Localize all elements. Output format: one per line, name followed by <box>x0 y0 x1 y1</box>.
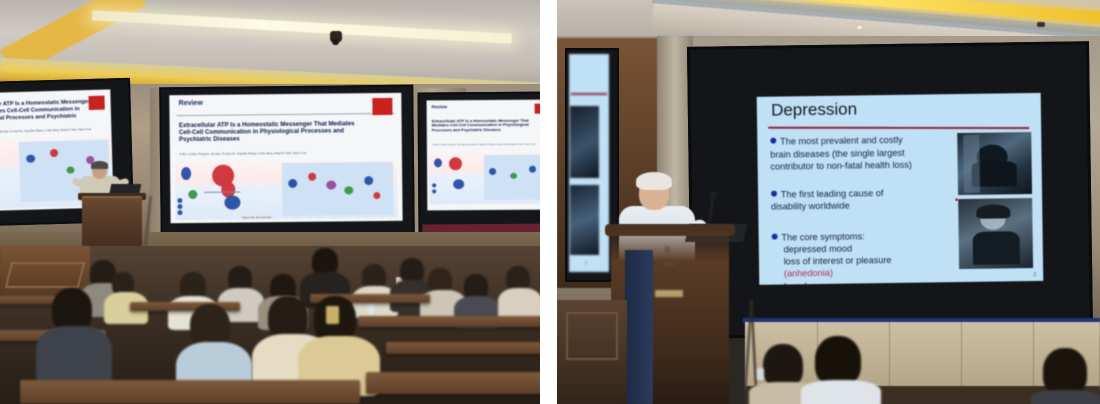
atp-slide-title: Extracellular ATP Is a Homeostatic Messe… <box>432 118 536 133</box>
slide-page-number: 2 <box>1033 272 1036 278</box>
hair-clip <box>326 306 339 324</box>
ceiling-downlight-icon <box>857 26 862 29</box>
bullet-dot-icon <box>771 233 777 239</box>
audience-head <box>815 336 861 386</box>
podium-emblem <box>663 262 677 266</box>
ceiling-camera-icon <box>330 31 342 42</box>
desk-row-front <box>366 372 540 394</box>
journal-logo-icon <box>535 104 540 114</box>
photo-person-against-brick-wall <box>958 198 1033 269</box>
depression-slide-side: 2 <box>569 54 609 272</box>
depression-slide-main: Depression The most prevalent and costly… <box>757 93 1044 285</box>
slide-title: Depression <box>771 99 857 120</box>
atp-slide-header: Review <box>179 100 203 107</box>
bullet-line: contributor to non-fatal health loss) <box>770 158 949 173</box>
atp-review-slide-right: Review Extracellular ATP Is a Homeostati… <box>427 100 540 211</box>
slide-page-number: 2 <box>585 260 587 265</box>
atp-slide-figure: Figure with cell schematic <box>175 159 398 220</box>
atp-slide-figure <box>429 151 540 205</box>
projection-screen-right-partial: Review Extracellular ATP Is a Homeostati… <box>418 91 540 234</box>
slide-bullet-list: The most prevalent and costly brain dise… <box>770 134 951 285</box>
projection-screen-center: Review Extracellular ATP Is a Homeostati… <box>159 85 415 240</box>
atp-slide-title: Extracellular ATP Is a Homeostatic Messe… <box>0 99 97 129</box>
bullet-item-2: The first leading cause of disability wo… <box>771 186 950 213</box>
desk-row <box>0 296 56 304</box>
atp-slide-title: Extracellular ATP Is a Homeostatic Messe… <box>179 120 365 144</box>
desk-row <box>358 316 540 327</box>
journal-logo-icon <box>89 95 105 109</box>
desk-row-front <box>20 380 360 404</box>
ceiling-sensor-icon <box>1037 22 1045 27</box>
audience-body <box>1031 390 1100 404</box>
atp-slide-authors: Yi Wu, Li Chen, Peng Lin, Xia Hao, Fu-Li… <box>0 128 95 135</box>
projection-screen-main: Depression The most prevalent and costly… <box>687 41 1093 339</box>
atp-slide-authors: Yi Wu, Li Chen, Peng Lin, Xia Hao, Fu-Li… <box>432 144 540 147</box>
stage-curtain <box>625 250 653 404</box>
speaker-hair <box>91 161 108 169</box>
laser-pointer-dot <box>955 198 958 201</box>
screenshot-root: Extracellular ATP Is a Homeostatic Messe… <box>0 0 1100 404</box>
water-bottle <box>757 368 764 380</box>
atp-figure-caption: Figure with cell schematic <box>242 216 272 219</box>
photo-right-speaker-depression-slide: 2 Depression The most prevalent and cost… <box>557 0 1100 404</box>
bullet-dot-icon <box>771 191 777 197</box>
bullet-item-3: The core symptoms: depressed mood loss o… <box>771 229 951 285</box>
audience-body <box>36 326 112 384</box>
desk-row <box>386 342 540 354</box>
bullet-item-1: The most prevalent and costly brain dise… <box>770 134 949 173</box>
speaker-hair <box>636 172 672 190</box>
atp-slide-authors: Yi Wu, Li Chen, Peng Lin, Xia Hao, Fu-Li… <box>179 151 388 156</box>
atp-review-slide-center: Review Extracellular ATP Is a Homeostati… <box>169 93 402 223</box>
audience-body <box>801 380 881 404</box>
photo-left-lecture-hall-wide: Extracellular ATP Is a Homeostatic Messe… <box>0 0 540 404</box>
audience-head <box>1043 348 1087 396</box>
side-cabinet <box>557 300 627 404</box>
journal-logo-icon <box>372 98 392 115</box>
photo-person-head-in-hands <box>957 132 1032 195</box>
slide-title-rule <box>768 127 1029 129</box>
podium-nameplate <box>655 290 683 297</box>
bullet-line: disability worldwide <box>771 199 950 214</box>
atp-slide-header: Review <box>432 105 448 110</box>
slide-image-column <box>957 132 1033 269</box>
